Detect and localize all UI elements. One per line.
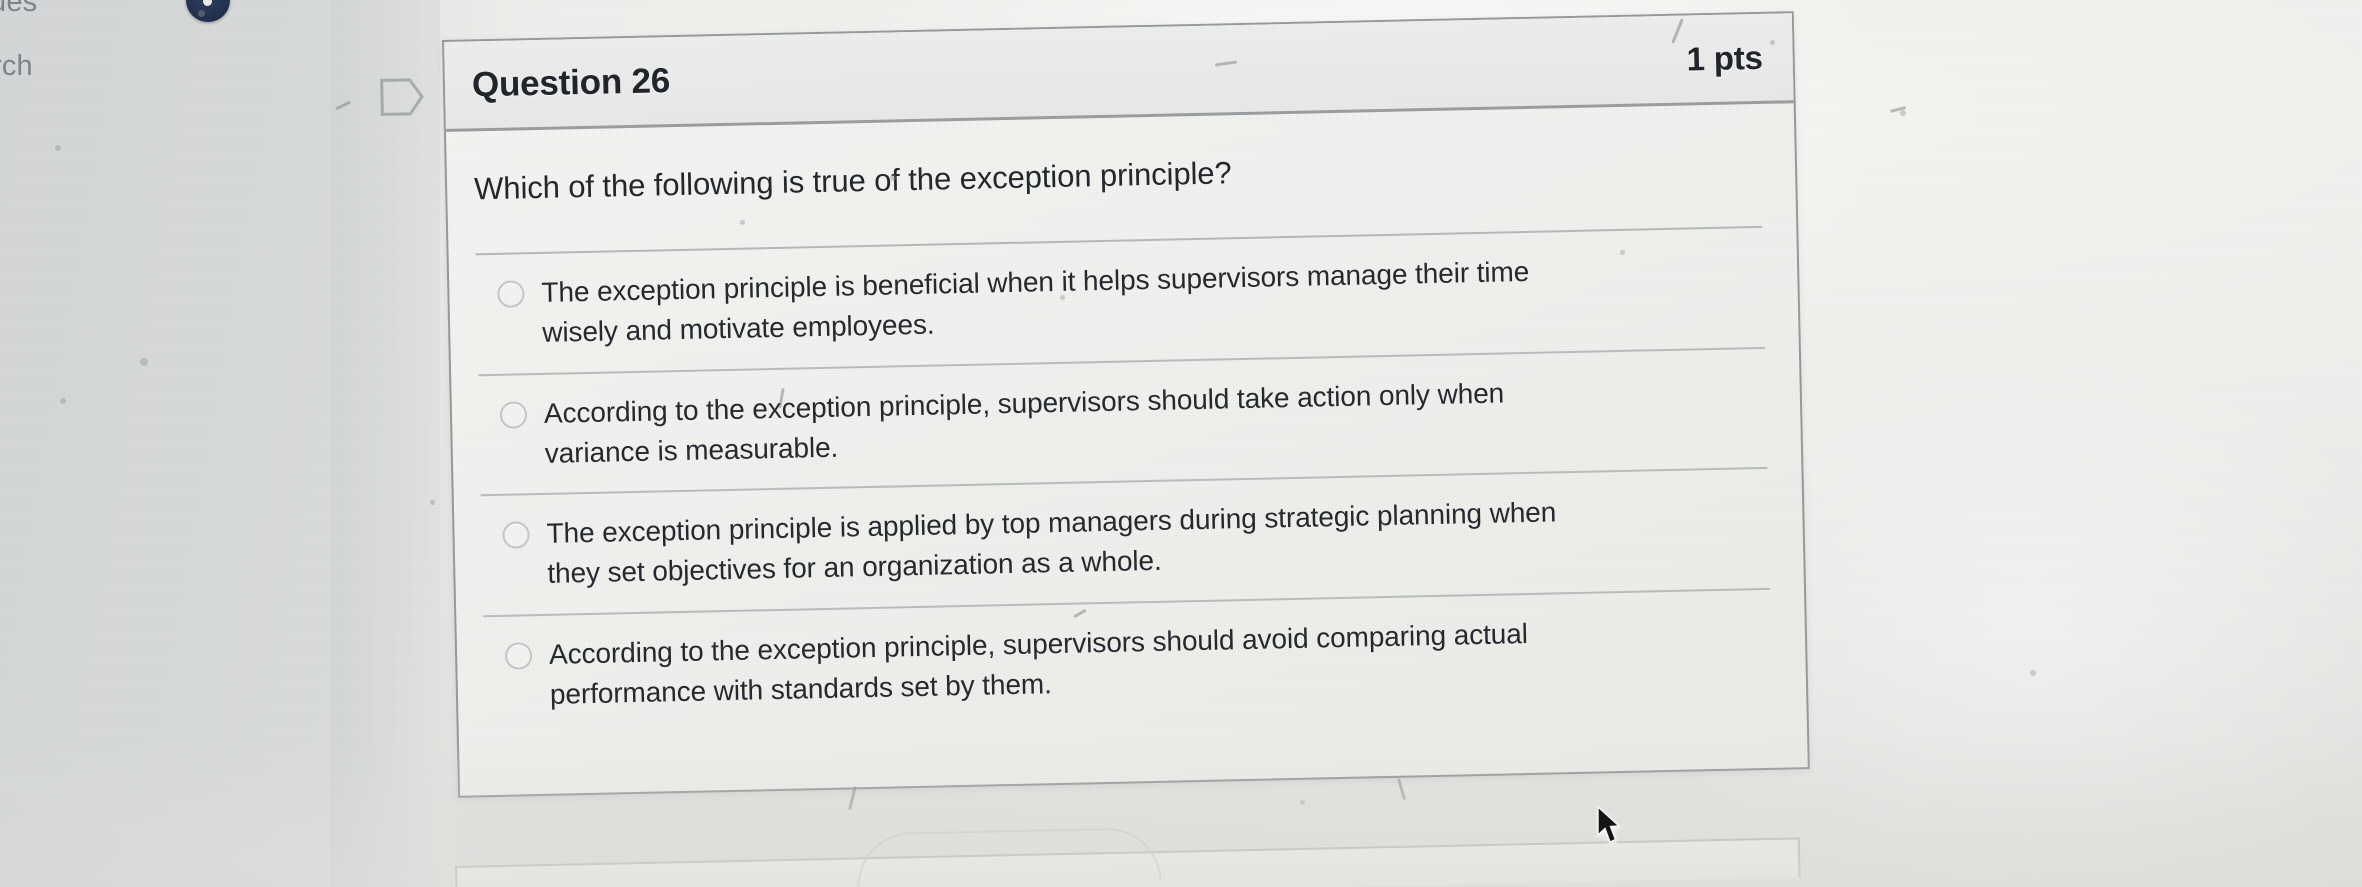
screenshot-root: ues rch Question 26 1 pts Which of the f…: [0, 0, 2362, 887]
mouse-cursor-arrow-icon: [1596, 806, 1622, 844]
photo-vignette: [0, 0, 2362, 887]
